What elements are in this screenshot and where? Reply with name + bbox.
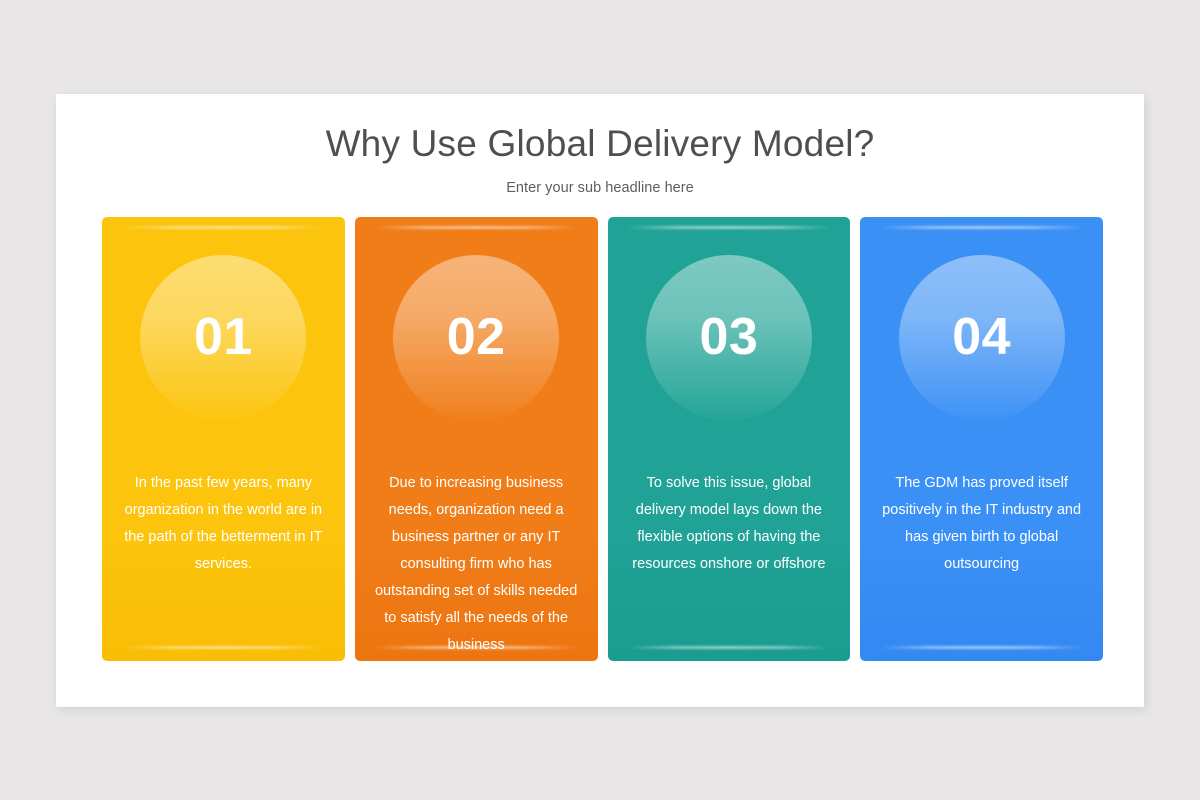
card-number-circle: 02 — [393, 255, 559, 421]
slide-panel: Why Use Global Delivery Model? Enter you… — [56, 94, 1144, 707]
card-number-label: 02 — [447, 311, 506, 363]
card-04[interactable]: 04 The GDM has proved itself positively … — [860, 217, 1103, 661]
card-description: To solve this issue, global delivery mod… — [627, 470, 831, 578]
slide-header: Why Use Global Delivery Model? Enter you… — [56, 94, 1144, 196]
card-03[interactable]: 03 To solve this issue, global delivery … — [608, 217, 851, 661]
card-description: The GDM has proved itself positively in … — [880, 470, 1084, 578]
cards-row: 01 In the past few years, many organizat… — [102, 217, 1103, 661]
card-number-label: 01 — [194, 311, 253, 363]
card-02[interactable]: 02 Due to increasing business needs, org… — [355, 217, 598, 661]
page-title: Why Use Global Delivery Model? — [56, 123, 1144, 166]
card-number-label: 03 — [699, 311, 758, 363]
page-subtitle: Enter your sub headline here — [56, 180, 1144, 196]
card-number-label: 04 — [952, 311, 1011, 363]
card-01[interactable]: 01 In the past few years, many organizat… — [102, 217, 345, 661]
card-number-circle: 04 — [899, 255, 1065, 421]
card-description: In the past few years, many organization… — [121, 470, 325, 578]
card-description: Due to increasing business needs, organi… — [374, 470, 578, 659]
card-number-circle: 03 — [646, 255, 812, 421]
card-number-circle: 01 — [140, 255, 306, 421]
